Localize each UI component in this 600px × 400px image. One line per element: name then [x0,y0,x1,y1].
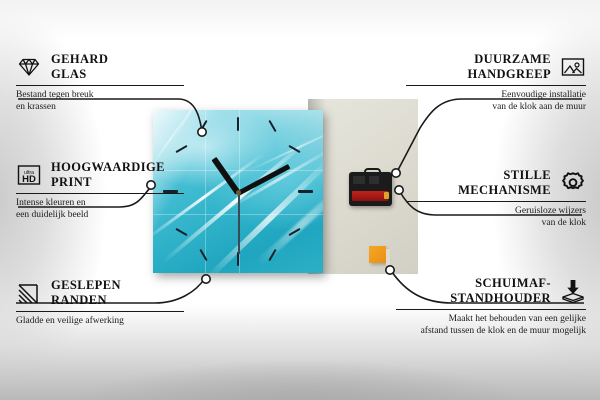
feature-title: STILLEMECHANISME [458,168,551,197]
battery [352,191,388,201]
product-photo [153,99,418,274]
clock-tick [237,117,239,131]
gear-icon [560,170,586,196]
clock-tick [175,145,187,153]
feature-description: Geruisloze wijzersvan de klok [406,206,586,229]
feature-description: Bestand tegen breuken krassen [16,90,184,113]
background-bottom-shadow [0,340,600,400]
feature-divider [16,311,184,312]
feature-divider [406,85,586,86]
background-top-gradient [0,0,600,40]
clock-second-hand [238,192,240,254]
clock-tick [199,249,207,261]
feature-title: HOOGWAARDIGEPRINT [51,160,165,189]
feature-divider [406,201,586,202]
clock-movement [349,168,392,206]
feature-title: GEHARDGLAS [51,52,108,81]
ultra-hd-icon: ultra HD [16,162,42,188]
feature-divider [16,85,184,86]
ultra-hd-large-text: HD [22,174,36,185]
picture-frame-icon [560,54,586,80]
clock-tick [298,190,313,193]
clock-center-cap [236,190,241,195]
battery-terminal [384,192,389,199]
infographic-canvas: GEHARDGLAS Bestand tegen breuken krassen… [0,0,600,400]
feature-divider [396,309,586,310]
feature-description: Gladde en veilige afwerking [16,316,184,328]
feature-description: Intense kleuren eneen duidelijk beeld [16,198,184,221]
foam-spacer-side [386,249,390,266]
feature-title: GESLEPENRANDEN [51,278,121,307]
foam-spacer-pad [369,246,386,263]
feature-duurzame-handgreep: DUURZAMEHANDGREEP Eenvoudige installatie… [406,52,586,113]
diamond-icon [16,54,42,80]
feature-schuimafstandhouder: SCHUIMAF-STANDHOUDER Maakt het behouden … [396,276,586,337]
feature-geslepen-randen: GESLEPENRANDEN Gladde en veilige afwerki… [16,278,184,328]
movement-slot [369,176,379,184]
feature-divider [16,193,184,194]
clock-tick [199,120,207,132]
movement-slot [353,176,365,184]
down-arrow-pad-icon [560,278,586,304]
hatched-edge-icon [16,280,42,306]
clock-tick [268,120,276,132]
feature-title: SCHUIMAF-STANDHOUDER [450,276,551,305]
feature-title: DUURZAMEHANDGREEP [468,52,551,81]
feature-gehard-glas: GEHARDGLAS Bestand tegen breuken krassen [16,52,184,113]
feature-description: Maakt het behouden van een gelijkeafstan… [396,314,586,337]
clock-tick [237,252,239,266]
glass-pane-line [205,110,206,273]
clock-tick [175,228,187,236]
feature-description: Eenvoudige installatievan de klok aan de… [406,90,586,113]
feature-stille-mechanisme: STILLEMECHANISME Geruisloze wijzersvan d… [406,168,586,229]
feature-hoogwaardige-print: ultra HD HOOGWAARDIGEPRINT Intense kleur… [16,160,184,221]
